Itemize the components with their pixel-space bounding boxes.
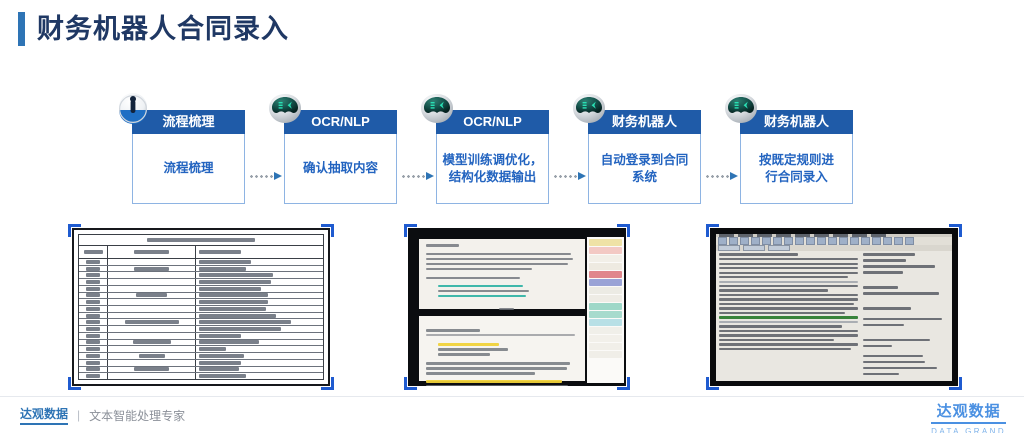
flow-step-2-line-1: 确认抽取内容 bbox=[303, 160, 378, 177]
connector-dots bbox=[249, 175, 275, 178]
corner-bracket-icon bbox=[68, 224, 81, 237]
flow-step-5-line-1: 按既定规则进 bbox=[759, 152, 834, 169]
screenshot-scanned-contract-table[interactable] bbox=[72, 228, 330, 386]
document-pane-bottom bbox=[419, 316, 585, 381]
arrow-head-icon bbox=[578, 172, 586, 180]
label-chip bbox=[589, 303, 622, 310]
flow-step-1-body: 流程梳理 bbox=[132, 134, 245, 204]
connector-dots bbox=[401, 175, 427, 178]
app-text-pane-right bbox=[863, 253, 949, 379]
legacy-app-photo bbox=[710, 228, 958, 386]
label-chip bbox=[589, 247, 622, 254]
table-row bbox=[79, 333, 323, 340]
flow-step-4[interactable]: 财务机器人 自动登录到合同 系统 bbox=[588, 110, 701, 204]
table-row bbox=[79, 259, 323, 266]
corner-bracket-icon bbox=[321, 224, 334, 237]
corner-bracket-icon bbox=[68, 377, 81, 390]
app-content-area bbox=[716, 251, 952, 381]
screenshot-legacy-app[interactable] bbox=[710, 228, 958, 386]
flow-connector-3 bbox=[553, 172, 589, 181]
label-chip bbox=[589, 255, 622, 262]
robot-head-icon bbox=[723, 92, 759, 126]
annotation-tool-photo bbox=[408, 228, 626, 386]
screenshot-gallery bbox=[0, 228, 1024, 393]
flow-step-5-line-2: 行合同录入 bbox=[759, 169, 834, 186]
label-chip-list[interactable] bbox=[587, 237, 624, 382]
corner-bracket-icon bbox=[321, 377, 334, 390]
app-text-pane-left bbox=[719, 253, 859, 379]
arrow-head-icon bbox=[730, 172, 738, 180]
footer-separator: | bbox=[77, 408, 80, 422]
label-chip bbox=[589, 351, 622, 358]
logo-english-text: DATA GRAND bbox=[931, 427, 1006, 433]
label-chip bbox=[589, 335, 622, 342]
table-row bbox=[79, 279, 323, 286]
screenshot-annotation-tool[interactable] bbox=[408, 228, 626, 386]
flow-step-3-line-2: 结构化数据输出 bbox=[442, 169, 542, 186]
flow-connector-1 bbox=[249, 172, 285, 181]
flow-step-5[interactable]: 财务机器人 按既定规则进 行合同录入 bbox=[740, 110, 853, 204]
flow-step-3-line-1: 模型训练调优化， bbox=[442, 152, 542, 169]
label-chip bbox=[589, 343, 622, 350]
table-row bbox=[79, 286, 323, 293]
table-row bbox=[79, 346, 323, 353]
connector-dots bbox=[705, 175, 731, 178]
label-chip bbox=[589, 295, 622, 302]
table-row bbox=[79, 373, 323, 379]
connector-dots bbox=[553, 175, 579, 178]
table-title-row bbox=[79, 235, 323, 246]
robot-head-icon bbox=[267, 92, 303, 126]
table-row bbox=[79, 266, 323, 273]
label-chip bbox=[589, 327, 622, 334]
app-toolbar[interactable] bbox=[716, 237, 952, 245]
table-row bbox=[79, 319, 323, 326]
footer-brand-block: 达观数据 | 文本智能处理专家 bbox=[20, 405, 185, 425]
flow-connector-2 bbox=[401, 172, 437, 181]
flow-step-4-line-2: 系统 bbox=[601, 169, 689, 186]
table-row bbox=[79, 367, 323, 374]
flow-step-4-line-1: 自动登录到合同 bbox=[601, 152, 689, 169]
footer-divider bbox=[0, 396, 1024, 397]
label-chip bbox=[589, 319, 622, 326]
label-chip bbox=[589, 263, 622, 270]
arrow-head-icon bbox=[426, 172, 434, 180]
page-title-text: 财务机器人合同录入 bbox=[37, 12, 289, 46]
table-row bbox=[79, 353, 323, 360]
document-pane-top bbox=[419, 239, 585, 309]
logo-chinese-text: 达观数据 bbox=[931, 400, 1006, 424]
flow-step-1-line-1: 流程梳理 bbox=[163, 160, 213, 177]
table-row bbox=[79, 293, 323, 300]
contract-table-document bbox=[72, 228, 330, 386]
label-chip bbox=[589, 311, 622, 318]
flow-step-3[interactable]: OCR/NLP 模型训练调优化， 结构化数据输出 bbox=[436, 110, 549, 204]
table-row bbox=[79, 313, 323, 320]
arrow-head-icon bbox=[274, 172, 282, 180]
flow-step-3-body: 模型训练调优化， 结构化数据输出 bbox=[436, 134, 549, 204]
robot-head-icon bbox=[419, 92, 455, 126]
footer-tagline: 文本智能处理专家 bbox=[89, 407, 185, 424]
table-header-row bbox=[79, 246, 323, 259]
label-chip bbox=[589, 287, 622, 294]
flow-step-5-body: 按既定规则进 行合同录入 bbox=[740, 134, 853, 204]
title-accent-bar bbox=[18, 12, 25, 46]
robot-head-icon bbox=[571, 92, 607, 126]
flow-connector-4 bbox=[705, 172, 741, 181]
table-row bbox=[79, 299, 323, 306]
table-row bbox=[79, 272, 323, 279]
flow-step-4-body: 自动登录到合同 系统 bbox=[588, 134, 701, 204]
slide-root: 财务机器人合同录入 流程梳理 流程梳理 bbox=[0, 0, 1024, 433]
flow-step-2-body: 确认抽取内容 bbox=[284, 134, 397, 204]
flow-step-2[interactable]: OCR/NLP 确认抽取内容 bbox=[284, 110, 397, 204]
label-chip bbox=[589, 239, 622, 246]
table-row bbox=[79, 360, 323, 367]
footer-brand: 达观数据 bbox=[20, 405, 68, 425]
page-title: 财务机器人合同录入 bbox=[18, 12, 289, 46]
label-chip bbox=[589, 271, 622, 278]
person-idea-icon bbox=[115, 92, 151, 126]
table-row bbox=[79, 306, 323, 313]
flow-step-1[interactable]: 流程梳理 流程梳理 bbox=[132, 110, 245, 204]
table-row bbox=[79, 340, 323, 347]
company-logo: 达观数据 DATA GRAND bbox=[931, 400, 1006, 433]
table-row bbox=[79, 326, 323, 333]
process-flow: 流程梳理 流程梳理 bbox=[96, 92, 976, 217]
label-chip bbox=[589, 279, 622, 286]
